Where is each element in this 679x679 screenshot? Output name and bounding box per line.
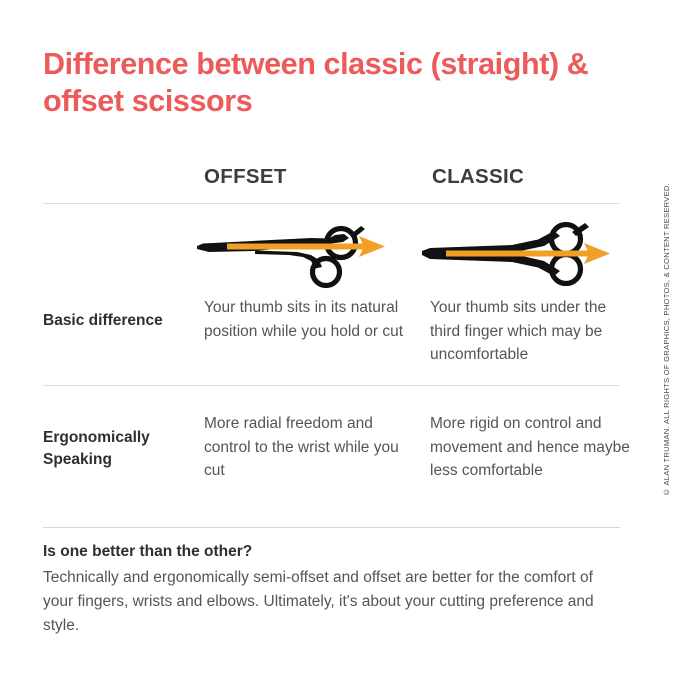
offset-scissors-illustration — [193, 214, 398, 292]
classic-scissors-body — [422, 223, 589, 276]
footer-body: Technically and ergonomically semi-offse… — [43, 566, 621, 639]
column-header-classic: CLASSIC — [432, 165, 524, 189]
copyright-notice: © ALAN TRUMAN. ALL RIGHTS OF GRAPHICS, P… — [655, 0, 677, 679]
divider-middle — [43, 385, 620, 386]
infographic-page: Difference between classic (straight) & … — [0, 0, 679, 679]
page-title: Difference between classic (straight) & … — [43, 46, 603, 120]
row-label-basic-difference: Basic difference — [43, 310, 198, 332]
cell-classic-basic-difference: Your thumb sits under the third finger w… — [430, 296, 630, 367]
column-header-offset: OFFSET — [204, 165, 287, 189]
divider-top — [43, 203, 620, 204]
copyright-text: © ALAN TRUMAN. ALL RIGHTS OF GRAPHICS, P… — [662, 183, 671, 497]
cell-offset-ergonomically-speaking: More radial freedom and control to the w… — [204, 412, 409, 483]
cell-classic-ergonomically-speaking: More rigid on control and movement and h… — [430, 412, 630, 483]
classic-scissors-illustration — [420, 214, 625, 292]
divider-bottom — [43, 527, 620, 528]
footer-heading: Is one better than the other? — [43, 543, 252, 561]
row-label-ergonomically-speaking: Ergonomically Speaking — [43, 427, 198, 471]
cell-offset-basic-difference: Your thumb sits in its natural position … — [204, 296, 409, 343]
offset-lower-ring — [313, 259, 340, 286]
classic-upper-ring — [552, 225, 581, 254]
